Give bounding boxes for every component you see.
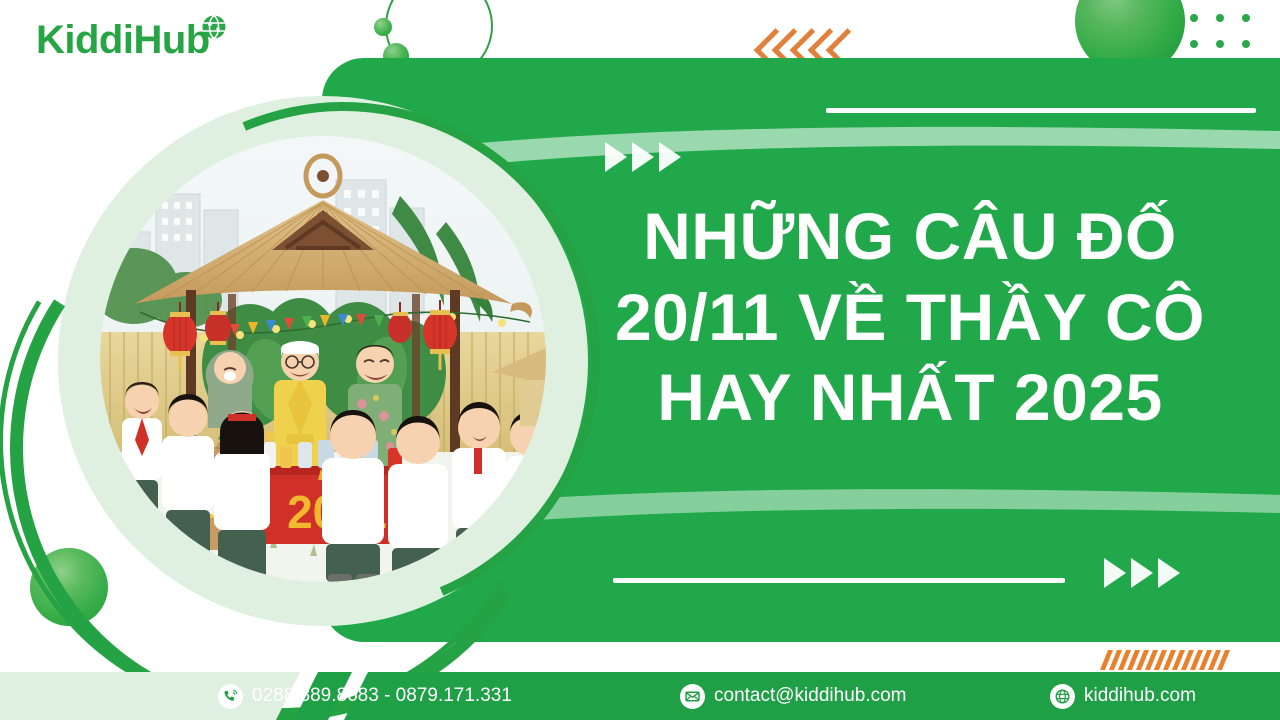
brand-logo[interactable]: KiddiHub: [36, 18, 240, 63]
triangle-right-icon-top: [605, 142, 681, 172]
triangle-right-icon-bottom: [1104, 558, 1180, 588]
globe-icon-footer: [1050, 684, 1075, 709]
footer-phone[interactable]: 0288.889.8683 - 0879.171.331: [218, 684, 512, 709]
title-rule-bottom: [613, 578, 1065, 583]
title-line-2: 20/11 VỀ THẦY CÔ: [560, 277, 1260, 358]
title-rule-top: [826, 108, 1256, 113]
brand-name: KiddiHub: [36, 18, 210, 63]
footer-email[interactable]: contact@kiddihub.com: [680, 684, 907, 709]
sphere-icon-ring-small: [374, 18, 392, 36]
banner-canvas: 2011: [0, 0, 1280, 720]
footer-email-text: contact@kiddihub.com: [714, 685, 907, 707]
title-line-1: NHỮNG CÂU ĐỐ: [560, 196, 1260, 277]
footer-website[interactable]: kiddihub.com: [1050, 684, 1196, 709]
footer-phone-text: 0288.889.8683 - 0879.171.331: [252, 685, 512, 707]
banner-illustration: 2011: [100, 136, 546, 582]
footer-contact-list: 0288.889.8683 - 0879.171.331 contact@kid…: [0, 672, 1280, 720]
hatch-marks-icon: [1104, 650, 1240, 670]
title-line-3: HAY NHẤT 2025: [560, 357, 1260, 438]
chevron-left-icon-group: [762, 26, 854, 60]
envelope-icon: [680, 684, 705, 709]
footer-website-text: kiddihub.com: [1084, 685, 1196, 707]
globe-icon: [199, 12, 229, 47]
contact-footer: 0288.889.8683 - 0879.171.331 contact@kid…: [0, 672, 1280, 720]
page-title: NHỮNG CÂU ĐỐ 20/11 VỀ THẦY CÔ HAY NHẤT 2…: [560, 196, 1260, 438]
phone-icon: [218, 684, 243, 709]
